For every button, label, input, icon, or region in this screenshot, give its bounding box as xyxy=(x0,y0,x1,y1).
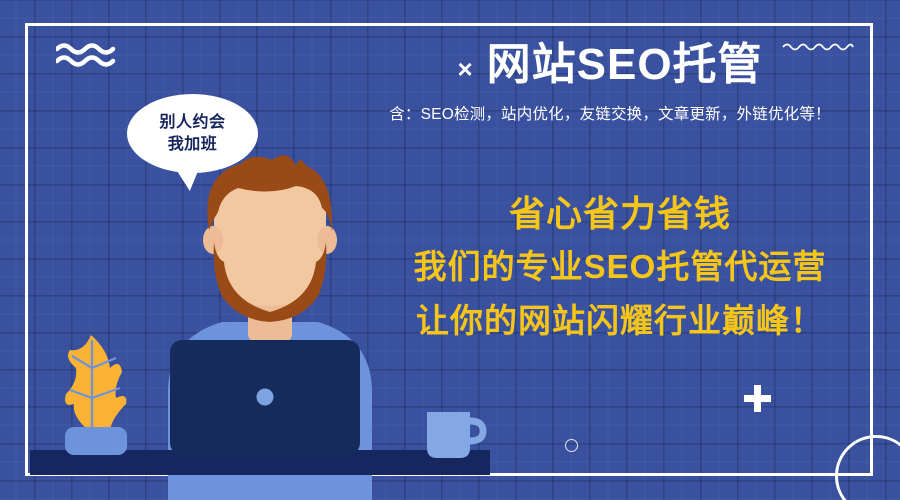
slogan-line-2: 我们的专业SEO托管代运营 xyxy=(360,240,880,293)
double-wave-icon xyxy=(56,42,118,68)
slogan-line-3: 让你的网站闪耀行业巅峰！ xyxy=(360,294,880,347)
speech-bubble-line-2: 我加班 xyxy=(168,134,218,155)
headline-block: × 网站SEO托管 含：SEO检测，站内优化，友链交换，文章更新，外链优化等！ xyxy=(330,42,890,124)
small-circle-decoration xyxy=(565,439,578,452)
slogan-line-1: 省心省力省钱 xyxy=(360,188,880,240)
title-bullet-mark: × xyxy=(457,56,472,82)
speech-bubble-line-1: 别人约会 xyxy=(159,112,225,133)
speech-bubble: 别人约会 我加班 xyxy=(127,94,258,173)
title-text: 网站SEO托管 xyxy=(487,42,763,88)
seo-hosting-banner: 别人约会 我加班 × 网站SEO托管 含：SEO检测，站内优化，友链交换，文章更… xyxy=(0,0,900,500)
plus-icon xyxy=(744,385,771,412)
slogan-block: 省心省力省钱 我们的专业SEO托管代运营 让你的网站闪耀行业巅峰！ xyxy=(360,188,880,347)
page-title: × 网站SEO托管 xyxy=(330,42,890,88)
subtitle-text: 含：SEO检测，站内优化，友链交换，文章更新，外链优化等！ xyxy=(330,102,890,124)
